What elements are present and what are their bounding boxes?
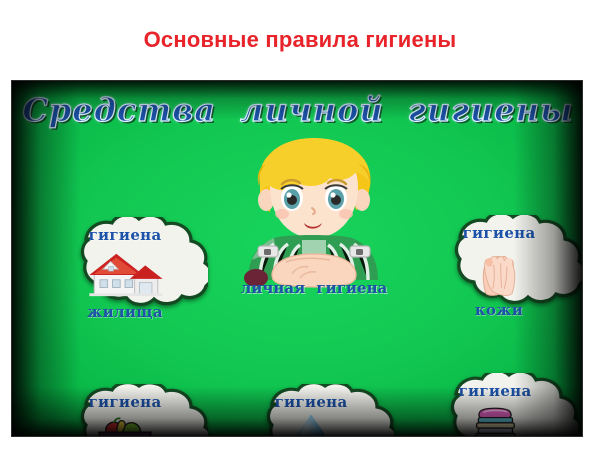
cloud-label-bottom: кожи <box>475 301 523 319</box>
fruit-bowl-icon <box>42 411 208 437</box>
child-caption: личная гигиена <box>208 279 420 297</box>
cloud-label-top: гигиена <box>463 224 536 242</box>
cloud-label-top: гигиена <box>89 226 162 244</box>
cloud-label-top: гигиена <box>459 382 532 400</box>
poster-heading: Средства личной гигиены <box>12 91 583 129</box>
cloud-card-water[interactable]: гигиена воды <box>228 384 394 437</box>
house-icon <box>42 244 208 303</box>
cloud-label-bottom: жилища <box>87 303 163 321</box>
hands-icon <box>416 242 582 301</box>
water-drop-icon <box>228 411 394 437</box>
cloud-label-top: гигиена <box>275 393 348 411</box>
page-title: Основные правила гигиены <box>0 27 600 53</box>
cloud-card-clothes[interactable]: гигиена одежды <box>412 373 578 437</box>
child-illustration-icon <box>230 128 398 288</box>
folded-clothes-stack-icon <box>412 400 578 437</box>
cloud-label-top: гигиена <box>89 393 162 411</box>
hygiene-poster: Средства личной гигиены гигиена <box>11 80 583 437</box>
cloud-card-skin[interactable]: гигиена кожи <box>416 215 582 327</box>
cloud-card-dwelling[interactable]: гигиена жилища <box>42 217 208 329</box>
cloud-card-food[interactable]: гигиена питания <box>42 384 208 437</box>
